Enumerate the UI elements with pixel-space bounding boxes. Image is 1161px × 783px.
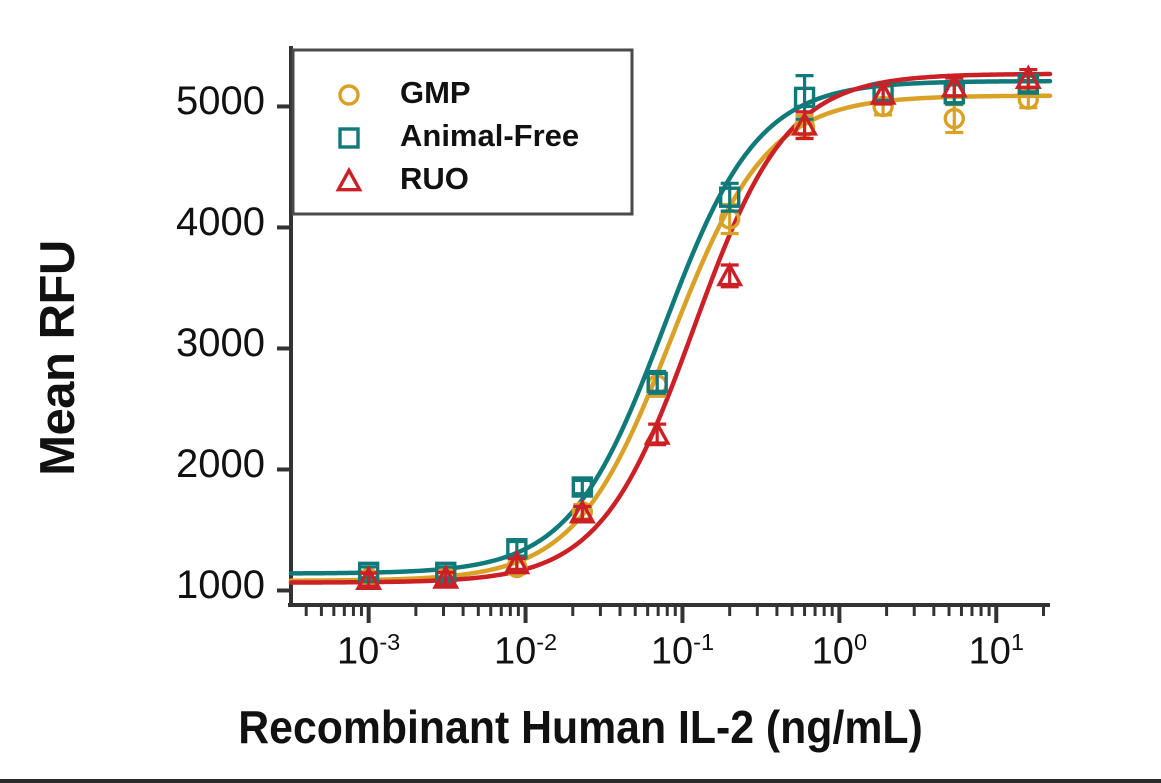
y-tick-label: 1000 xyxy=(65,563,265,608)
y-tick-label: 4000 xyxy=(65,200,265,245)
figure-bottom-rule xyxy=(0,779,1161,783)
y-tick-label: 2000 xyxy=(65,442,265,487)
x-axis-title: Recombinant Human IL-2 (ng/mL) xyxy=(41,700,1121,754)
x-tick-label: 10-1 xyxy=(592,629,772,674)
x-tick-label: 100 xyxy=(749,629,929,674)
legend-item-ruo: RUO xyxy=(400,161,469,197)
x-tick-label: 10-3 xyxy=(279,629,459,674)
x-tick-label: 10-2 xyxy=(436,629,616,674)
chart-figure: Mean RFU Recombinant Human IL-2 (ng/mL) … xyxy=(0,0,1161,783)
legend-item-animal-free: Animal-Free xyxy=(400,118,579,154)
legend-item-gmp: GMP xyxy=(400,75,471,111)
y-tick-label: 5000 xyxy=(65,79,265,124)
x-tick-label: 101 xyxy=(906,629,1086,674)
y-tick-label: 3000 xyxy=(65,321,265,366)
